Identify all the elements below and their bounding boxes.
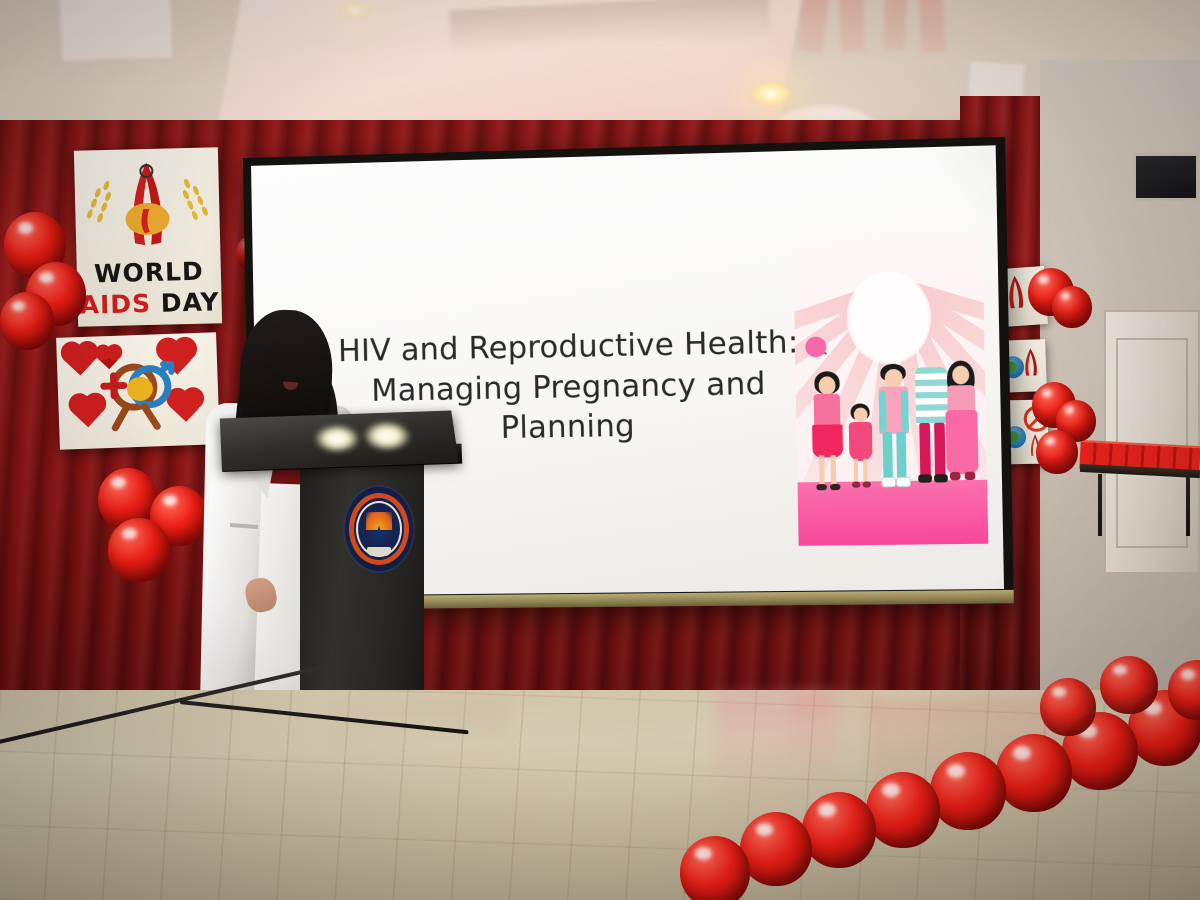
ceiling-figure-reflection [918,0,946,53]
poster-line-1: WORLD [77,256,222,289]
table-leg [1098,474,1102,536]
ceiling-figure-reflection [797,0,829,53]
balloon-arch-item [1100,656,1158,714]
podium-light-glare [363,421,411,451]
presentation-photo-scene: WORLD AIDS DAY [0,0,1200,900]
poster-word-aids: AIDS [79,289,151,320]
floor-reflection [330,700,510,790]
balloon-arch-item [802,792,876,868]
red-ribbon-icon [115,156,179,249]
balloon [108,518,170,582]
ceiling-figure-reflection [838,0,865,53]
illustration-figure-girl [846,403,875,492]
illustration-figure-woman [808,371,846,492]
poster-line-2: AIDS DAY [77,287,222,320]
ceiling-poster-reflection [59,0,173,62]
balloon-arch-item [866,772,940,848]
balloon-arch-item [930,752,1006,830]
slide-artwork [793,234,988,545]
wall-monitor[interactable] [1133,153,1199,201]
poster-world-aids-day: WORLD AIDS DAY [74,147,222,326]
illustration-figure-woman-2 [942,360,980,490]
balloon-arch-item [740,812,812,886]
balloon [1036,430,1078,474]
illustration-figure-boy [875,364,913,492]
ceiling-downlight-icon [748,82,794,108]
pink-balloon-icon [805,336,826,357]
poster-gender-symbols [56,332,220,450]
balloon [1052,286,1092,328]
podium-light-glare [314,424,360,453]
red-ribbon-icon [1021,347,1040,378]
university-logo [345,487,413,571]
balloon-arch-item [996,734,1072,812]
balloon-arch-item [680,836,750,900]
podium-top-surface [220,410,459,471]
balloon-arch-item [1040,678,1096,736]
floor-reflection [790,690,880,766]
logo-book-icon [367,547,391,556]
gender-symbol-icon [97,352,182,437]
balloon [0,292,54,350]
ceiling-figure-reflection [883,0,907,50]
ceiling-downlight-icon [338,2,372,20]
table-leg [1186,474,1190,536]
heart-icon [64,344,95,375]
poster-word-day: DAY [160,287,220,317]
